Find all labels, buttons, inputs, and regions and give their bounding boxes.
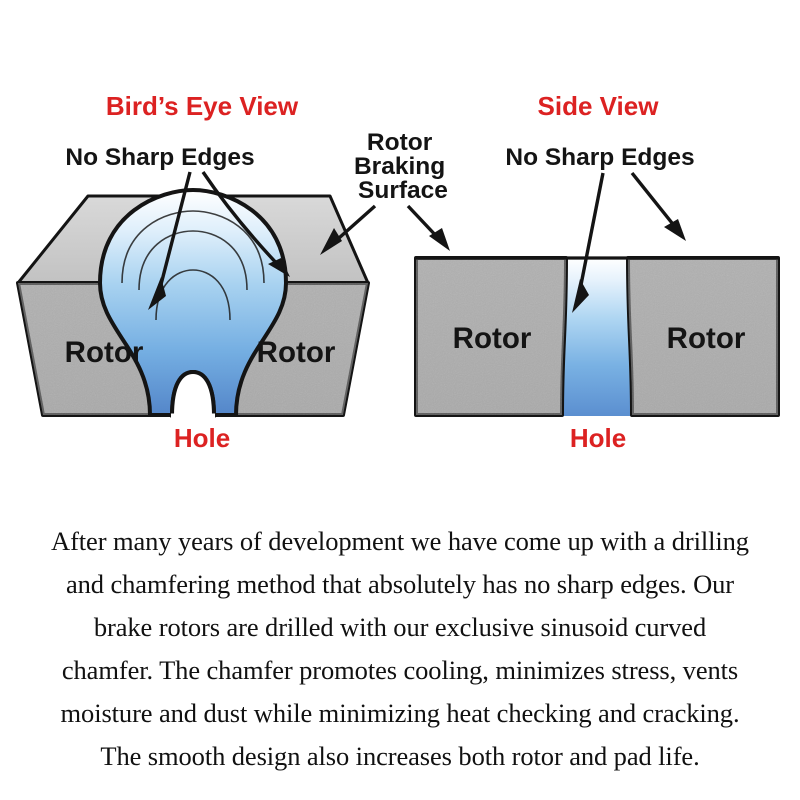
no-sharp-edges-label-left: No Sharp Edges	[65, 144, 254, 171]
braking-surface-line-1: Rotor	[367, 129, 433, 156]
description-line: brake rotors are drilled with our exclus…	[14, 606, 786, 649]
rotor-braking-surface-label: Rotor Braking Surface	[354, 129, 452, 204]
arrow-side-braking-surface	[408, 206, 450, 251]
birds-eye-view-group: Rotor Rotor Bird’s Eye View No Sharp Edg…	[18, 91, 452, 453]
description-paragraph: After many years of development we have …	[0, 520, 800, 778]
arrow-side-right-chamfer	[632, 173, 686, 241]
hole-label-side-view: Hole	[570, 423, 626, 453]
rotor-chamfer-diagram: Rotor Rotor Bird’s Eye View No Sharp Edg…	[0, 0, 800, 480]
diagram-stage: Rotor Rotor Bird’s Eye View No Sharp Edg…	[0, 0, 800, 480]
rotor-label-right: Rotor	[257, 336, 336, 369]
braking-surface-line-2: Braking	[354, 153, 445, 180]
birds-eye-view-title: Bird’s Eye View	[106, 91, 299, 121]
hole-mouth-birds-eye	[172, 372, 214, 416]
rotor-label-left: Rotor	[65, 336, 144, 369]
rotor-label-side-left: Rotor	[453, 322, 532, 355]
description-line: The smooth design also increases both ro…	[14, 735, 786, 778]
description-text: After many years of development we have …	[0, 520, 800, 778]
description-line: chamfer. The chamfer promotes cooling, m…	[14, 649, 786, 692]
description-line: moisture and dust while minimizing heat …	[14, 692, 786, 735]
braking-surface-line-3: Surface	[358, 177, 448, 204]
description-line: and chamfering method that absolutely ha…	[14, 563, 786, 606]
side-view-group: Rotor Rotor Side View No Sharp Edges	[408, 91, 778, 453]
rotor-label-side-right: Rotor	[667, 322, 746, 355]
hole-label-birds-eye: Hole	[174, 423, 230, 453]
side-view-title: Side View	[538, 91, 660, 121]
no-sharp-edges-label-right: No Sharp Edges	[505, 144, 694, 171]
description-line: After many years of development we have …	[14, 520, 786, 563]
